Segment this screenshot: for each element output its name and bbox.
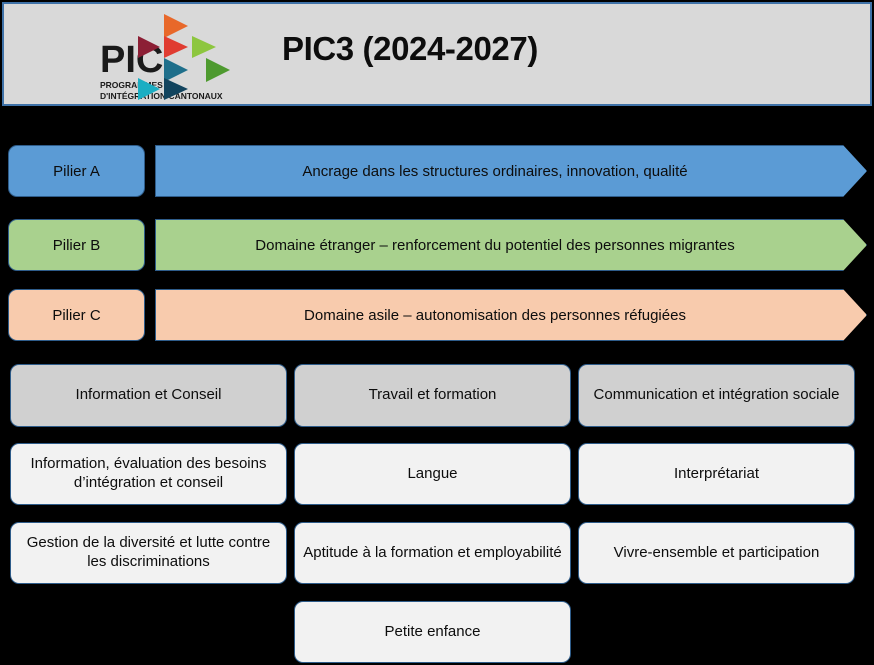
pic-logo: PIC PROGRAMMES D'INTÉGRATION CANTONAUX [96,10,248,104]
measure-box-petite-enfance[interactable]: Petite enfance [294,601,571,663]
logo-arrow-steelblue [164,58,188,82]
logo-arrow-red [164,36,188,58]
domain-box-information-conseil[interactable]: Information et Conseil [10,364,287,427]
diagram-root: PIC PROGRAMMES D'INTÉGRATION CANTONAUX P… [0,0,874,665]
measure-box-vivre-ensemble[interactable]: Vivre-ensemble et participation [578,522,855,584]
measure-box-information-evaluation[interactable]: Information, évaluation des besoins d’in… [10,443,287,505]
logo-arrow-lightgreen [192,36,216,58]
measure-box-langue[interactable]: Langue [294,443,571,505]
pillar-label-c: Pilier C [8,289,145,341]
measure-box-aptitude-formation[interactable]: Aptitude à la formation et employabilité [294,522,571,584]
header-banner: PIC PROGRAMMES D'INTÉGRATION CANTONAUX P… [2,2,872,106]
domain-box-communication-integration[interactable]: Communication et intégration sociale [578,364,855,427]
pillar-bar-b: Domaine étranger – renforcement du poten… [155,219,867,271]
logo-subtitle-line2: D'INTÉGRATION CANTONAUX [100,91,223,101]
pillar-bar-c: Domaine asile – autonomisation des perso… [155,289,867,341]
logo-arrow-orange [164,14,188,38]
logo-arrow-green [206,58,230,82]
pillar-label-a: Pilier A [8,145,145,197]
pillar-label-b: Pilier B [8,219,145,271]
measure-box-gestion-diversite[interactable]: Gestion de la diversité et lutte contre … [10,522,287,584]
measure-box-interpretariat[interactable]: Interprétariat [578,443,855,505]
domain-box-travail-formation[interactable]: Travail et formation [294,364,571,427]
pillar-bar-a: Ancrage dans les structures ordinaires, … [155,145,867,197]
pic-logo-svg: PIC PROGRAMMES D'INTÉGRATION CANTONAUX [96,10,248,104]
page-title: PIC3 (2024-2027) [282,30,538,68]
